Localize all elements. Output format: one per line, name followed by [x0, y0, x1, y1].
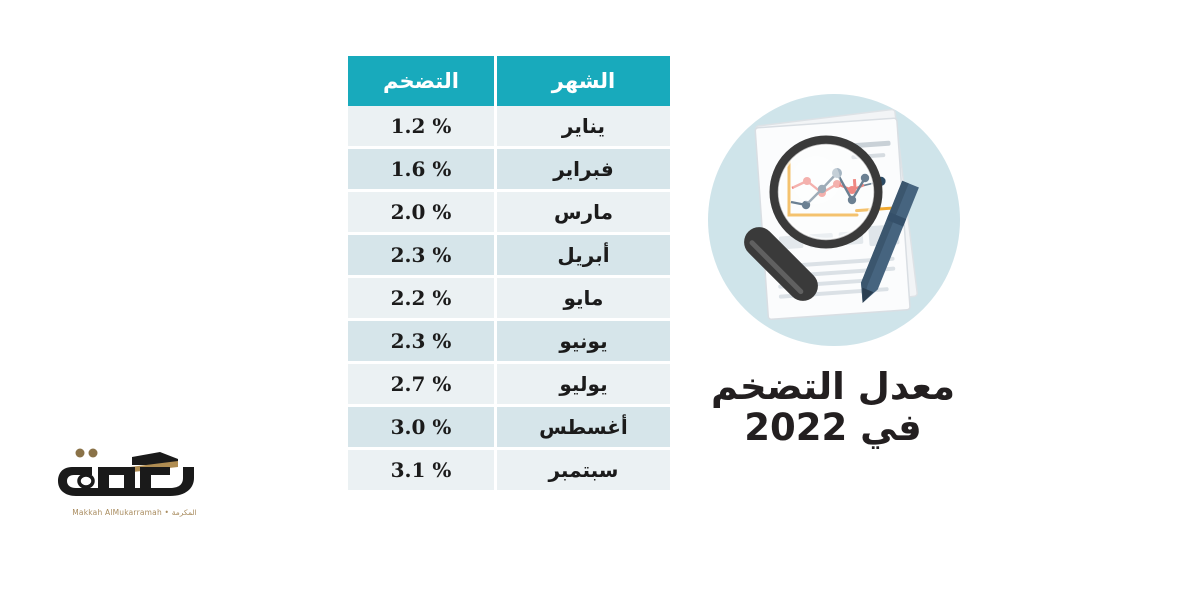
makkah-wordmark-icon: [52, 443, 217, 505]
cell-month: يناير: [494, 106, 670, 149]
table-row: يوليو 2.7 %: [348, 364, 670, 407]
logo-subtitle: Makkah AlMukarramah • المكرمة: [52, 508, 217, 517]
table-header-row: الشهر التضخم: [348, 56, 670, 106]
table-header: الشهر التضخم: [348, 56, 670, 106]
table-row: أغسطس 3.0 %: [348, 407, 670, 450]
table-row: مايو 2.2 %: [348, 278, 670, 321]
table-row: مارس 2.0 %: [348, 192, 670, 235]
cell-month: سبتمبر: [494, 450, 670, 493]
cell-inflation: 1.6 %: [348, 149, 494, 192]
table-row: أبريل 2.3 %: [348, 235, 670, 278]
title-line-1: معدل التضخم: [688, 366, 978, 407]
cell-inflation: 2.7 %: [348, 364, 494, 407]
table-body: يناير 1.2 % فبراير 1.6 % مارس 2.0 % أبري…: [348, 106, 670, 493]
cell-inflation: 2.2 %: [348, 278, 494, 321]
inflation-table-container: الشهر التضخم يناير 1.2 % فبراير 1.6 % ما…: [348, 56, 670, 493]
document-magnifier-pen-illustration: [706, 92, 962, 348]
table-row: يونيو 2.3 %: [348, 321, 670, 364]
table-row: يناير 1.2 %: [348, 106, 670, 149]
title-line-2: في 2022: [688, 407, 978, 448]
cell-inflation: 3.1 %: [348, 450, 494, 493]
cell-inflation: 1.2 %: [348, 106, 494, 149]
cell-inflation: 3.0 %: [348, 407, 494, 450]
inflation-table: الشهر التضخم يناير 1.2 % فبراير 1.6 % ما…: [348, 56, 670, 493]
cell-month: مايو: [494, 278, 670, 321]
cell-month: أغسطس: [494, 407, 670, 450]
cell-inflation: 2.3 %: [348, 321, 494, 364]
column-header-month: الشهر: [494, 56, 670, 106]
cell-month: فبراير: [494, 149, 670, 192]
page-title: معدل التضخم في 2022: [688, 366, 978, 449]
column-header-inflation: التضخم: [348, 56, 494, 106]
table-row: سبتمبر 3.1 %: [348, 450, 670, 493]
cell-inflation: 2.0 %: [348, 192, 494, 235]
table-row: فبراير 1.6 %: [348, 149, 670, 192]
cell-inflation: 2.3 %: [348, 235, 494, 278]
cell-month: أبريل: [494, 235, 670, 278]
cell-month: يونيو: [494, 321, 670, 364]
cell-month: يوليو: [494, 364, 670, 407]
makkah-logo: Makkah AlMukarramah • المكرمة: [52, 443, 217, 525]
infographic-canvas: الشهر التضخم يناير 1.2 % فبراير 1.6 % ما…: [0, 0, 1200, 600]
cell-month: مارس: [494, 192, 670, 235]
